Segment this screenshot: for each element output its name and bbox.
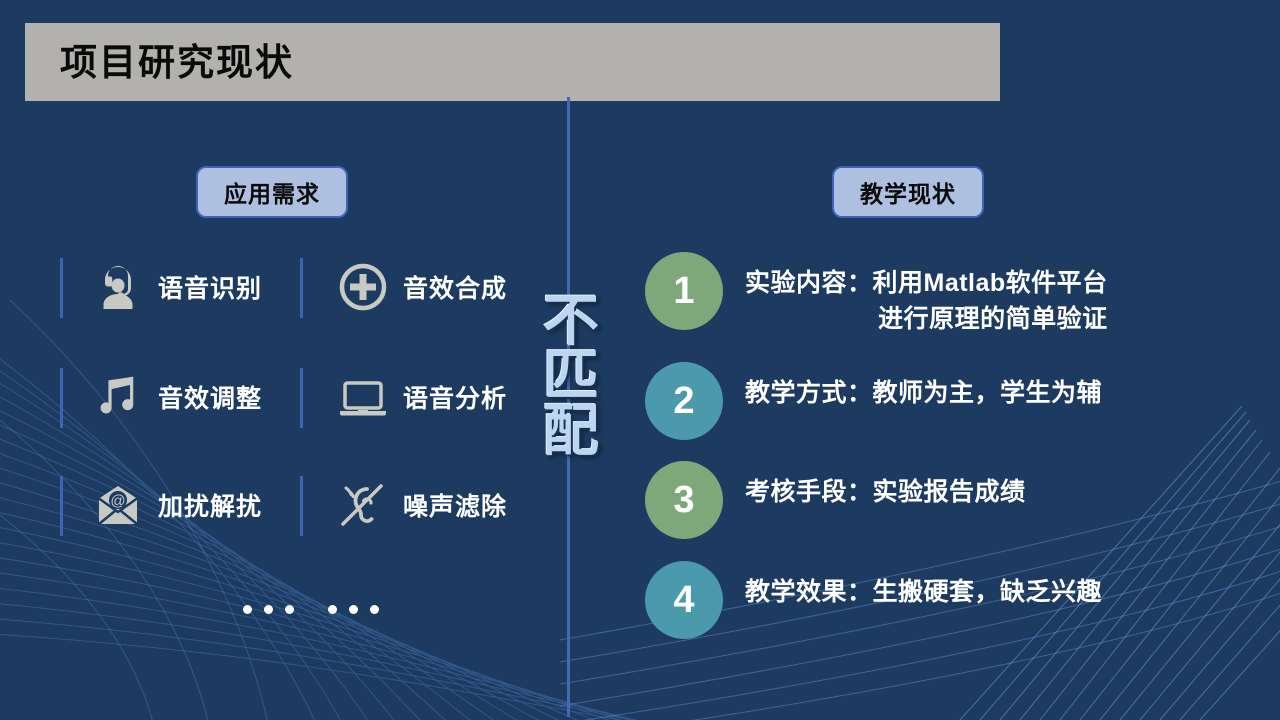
svg-text:@: @ (110, 493, 125, 510)
slide-root: 项目研究现状 应用需求 教学现状 语音识别 (0, 0, 1280, 720)
badge-application-needs-label: 应用需求 (224, 175, 320, 209)
mismatch-char: 配 (543, 404, 599, 459)
badge-application-needs: 应用需求 (196, 166, 348, 218)
envelope-at-icon: @ (90, 477, 146, 533)
need-item-sound-adjustment[interactable]: 音效调整 (90, 362, 262, 432)
status-number-badge: 2 (645, 362, 723, 440)
status-text-block: 实验内容：利用Matlab软件平台 进行原理的简单验证 (745, 252, 1108, 337)
need-item-speech-recognition[interactable]: 语音识别 (90, 252, 262, 322)
need-item-label: 音效合成 (403, 269, 507, 305)
need-item-scrambling[interactable]: @ 加扰解扰 (90, 470, 262, 540)
status-line: 考核手段：实验报告成绩 (745, 475, 1026, 511)
divider-tick (300, 368, 303, 428)
status-text-block: 教学效果：生搬硬套，缺乏兴趣 (745, 561, 1102, 611)
status-item-2[interactable]: 2 教学方式：教师为主，学生为辅 (645, 362, 1102, 440)
need-item-speech-analysis[interactable]: 语音分析 (335, 362, 507, 432)
ellipsis-dot (285, 605, 294, 614)
status-item-4[interactable]: 4 教学效果：生搬硬套，缺乏兴趣 (645, 561, 1102, 639)
ellipsis-dot (243, 605, 252, 614)
need-item-label: 语音分析 (403, 379, 507, 415)
status-number-badge: 4 (645, 561, 723, 639)
laptop-icon (335, 369, 391, 425)
ellipsis-dot (370, 605, 379, 614)
need-item-noise-filtering[interactable]: 噪声滤除 (335, 470, 507, 540)
divider-tick (60, 476, 63, 536)
ellipsis-dot (328, 605, 337, 614)
ear-muted-icon (335, 477, 391, 533)
status-number: 2 (673, 380, 694, 423)
badge-teaching-status-label: 教学现状 (860, 175, 956, 209)
ellipsis-dot (349, 605, 358, 614)
plus-circle-icon (335, 259, 391, 315)
divider-tick (60, 368, 63, 428)
ellipsis-dot (264, 605, 273, 614)
status-number-badge: 1 (645, 252, 723, 330)
page-title: 项目研究现状 (60, 44, 294, 81)
headset-person-icon (90, 259, 146, 315)
need-item-label: 音效调整 (158, 379, 262, 415)
music-notes-icon (90, 369, 146, 425)
status-number-badge: 3 (645, 461, 723, 539)
divider-tick (300, 476, 303, 536)
status-item-3[interactable]: 3 考核手段：实验报告成绩 (645, 461, 1026, 539)
status-line: 教学方式：教师为主，学生为辅 (745, 376, 1102, 412)
status-text-block: 教学方式：教师为主，学生为辅 (745, 362, 1102, 412)
badge-teaching-status: 教学现状 (832, 166, 984, 218)
mismatch-char: 匹 (543, 349, 599, 404)
mismatch-char: 不 (543, 294, 599, 349)
status-number: 1 (673, 270, 694, 313)
status-line: 教学效果：生搬硬套，缺乏兴趣 (745, 575, 1102, 611)
status-number: 3 (673, 479, 694, 522)
application-needs-grid: 语音识别 音效合成 音效调整 (60, 252, 560, 572)
status-line: 实验内容：利用Matlab软件平台 (745, 266, 1108, 302)
divider-tick (60, 258, 63, 318)
need-item-label: 语音识别 (158, 269, 262, 305)
need-item-label: 加扰解扰 (158, 487, 262, 523)
title-bar: 项目研究现状 (25, 23, 1000, 101)
need-item-label: 噪声滤除 (403, 487, 507, 523)
status-line: 进行原理的简单验证 (745, 302, 1108, 338)
ellipsis-indicator (243, 605, 379, 614)
divider-tick (300, 258, 303, 318)
need-item-sound-synthesis[interactable]: 音效合成 (335, 252, 507, 322)
status-text-block: 考核手段：实验报告成绩 (745, 461, 1026, 511)
status-item-1[interactable]: 1 实验内容：利用Matlab软件平台 进行原理的简单验证 (645, 252, 1108, 337)
mismatch-label: 不 匹 配 (536, 294, 606, 459)
status-number: 4 (673, 579, 694, 622)
